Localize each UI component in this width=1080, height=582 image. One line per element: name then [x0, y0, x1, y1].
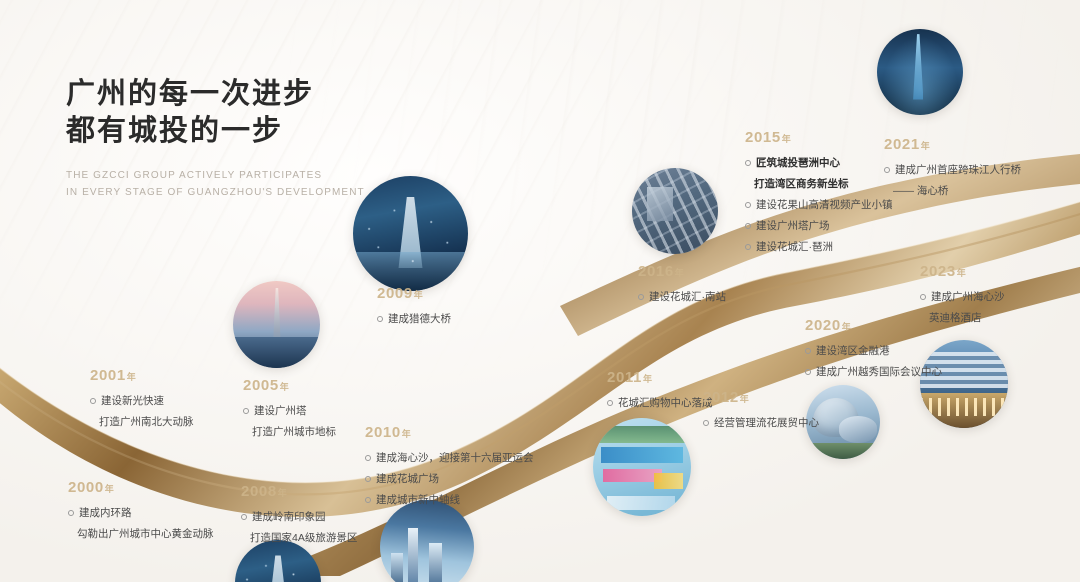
bullet-dot-icon [243, 408, 249, 414]
entry-line-text: 打造广州南北大动脉 [99, 413, 194, 431]
entry-2012[interactable]: 2012年经营管理流花展贸中心 [703, 390, 819, 432]
bullet-dot-icon [68, 510, 74, 516]
entry-line-text: 花城汇购物中心落成 [618, 394, 713, 412]
bullet-dot-icon [745, 202, 751, 208]
photo-liede-bridge[interactable] [353, 176, 468, 291]
bullet-dot-icon [241, 514, 247, 520]
entry-year: 2008年 [241, 484, 357, 501]
entry-line: 打造国家4A级旅游景区 [241, 529, 357, 547]
entry-year: 2015年 [745, 130, 893, 147]
bullet-dot-icon [745, 223, 751, 229]
entry-line: 建设广州塔广场 [745, 217, 893, 235]
entry-2015[interactable]: 2015年匠筑城投琶洲中心打造湾区商务新坐标建设花果山高清视频产业小镇建设广州塔… [745, 130, 893, 256]
entry-line-text: 建成岭南印象园 [252, 508, 326, 526]
entry-year: 2023年 [920, 264, 1005, 281]
entry-2010[interactable]: 2010年建成海心沙，迎接第十六届亚运会建成花城广场建成城市新中轴线 [365, 425, 534, 509]
entry-line-text: 建成花城广场 [376, 470, 439, 488]
entry-line: 经营管理流花展贸中心 [703, 414, 819, 432]
entry-2009[interactable]: 2009年建成猎德大桥 [377, 286, 451, 328]
entry-line: 建成广州海心沙 [920, 288, 1005, 306]
bullet-dot-icon [805, 369, 811, 375]
entry-line-text: 建设广州塔 [254, 402, 307, 420]
entry-line: 建设花果山高清视频产业小镇 [745, 196, 893, 214]
entry-line: 打造广州南北大动脉 [90, 413, 194, 431]
entry-year-suffix: 年 [782, 134, 792, 144]
entry-2008[interactable]: 2008年建成岭南印象园打造国家4A级旅游景区 [241, 484, 357, 547]
entry-2023[interactable]: 2023年建成广州海心沙英迪格酒店 [920, 264, 1005, 327]
entry-line-text: 经营管理流花展贸中心 [714, 414, 819, 432]
entry-2000[interactable]: 2000年建成内环路勾勒出广州城市中心黄金动脉 [68, 480, 214, 543]
entry-line-text: 建成海心沙，迎接第十六届亚运会 [376, 449, 534, 467]
entry-year-suffix: 年 [280, 382, 290, 392]
photo-haixin-bridge[interactable] [877, 29, 963, 115]
entry-2020[interactable]: 2020年建设湾区金融港建成广州越秀国际会议中心 [805, 318, 942, 381]
entry-line: 建设花城汇·南站 [638, 288, 726, 306]
entry-line: 建成岭南印象园 [241, 508, 357, 526]
photo-pazhou-aerial[interactable] [632, 168, 718, 254]
entry-line-text: 建设新光快速 [101, 392, 164, 410]
bullet-dot-icon [365, 455, 371, 461]
entry-line: 建成猎德大桥 [377, 310, 451, 328]
entry-line-text: 打造湾区商务新坐标 [754, 175, 849, 193]
photo-huachenghui-mall[interactable] [593, 418, 691, 516]
entry-line-text: 打造广州城市地标 [252, 423, 336, 441]
entry-line-text: 建成猎德大桥 [388, 310, 451, 328]
entry-line: 建成海心沙，迎接第十六届亚运会 [365, 449, 534, 467]
entry-line-text: 打造国家4A级旅游景区 [250, 529, 357, 547]
entry-line-text: 建设花果山高清视频产业小镇 [756, 196, 893, 214]
infographic-canvas: 广州的每一次进步 都有城投的一步 THE GZCCI GROUP ACTIVEL… [0, 0, 1080, 582]
entry-line-text: 匠筑城投琶洲中心 [756, 154, 840, 172]
entry-line-text: 建成广州越秀国际会议中心 [816, 363, 942, 381]
entry-line: 花城汇购物中心落成 [607, 394, 713, 412]
entry-year: 2011年 [607, 370, 713, 387]
entry-year-suffix: 年 [921, 141, 931, 151]
bullet-dot-icon [638, 294, 644, 300]
entry-2001[interactable]: 2001年建设新光快速打造广州南北大动脉 [90, 368, 194, 431]
photo-canton-tower[interactable] [233, 281, 320, 368]
entry-line-text: 英迪格酒店 [929, 309, 982, 327]
entry-line: 建成内环路 [68, 504, 214, 522]
bullet-dot-icon [377, 316, 383, 322]
entry-line: 建成花城广场 [365, 470, 534, 488]
entry-year-suffix: 年 [414, 290, 424, 300]
page-title: 广州的每一次进步 都有城投的一步 [66, 76, 486, 150]
bullet-dot-icon [805, 348, 811, 354]
entry-year-suffix: 年 [957, 268, 967, 278]
entry-line: —— 海心桥 [884, 182, 1021, 200]
entry-line-text: 建成广州海心沙 [931, 288, 1005, 306]
entry-year-suffix: 年 [278, 488, 288, 498]
entry-year-suffix: 年 [740, 394, 750, 404]
entry-line-text: 建设湾区金融港 [816, 342, 890, 360]
entry-line-text: 建设花城汇·琶洲 [756, 238, 833, 256]
bullet-dot-icon [745, 244, 751, 250]
photo-cbd-skyline[interactable] [380, 500, 474, 582]
entry-line: 建设广州塔 [243, 402, 336, 420]
entry-year: 2009年 [377, 286, 451, 303]
entry-year-suffix: 年 [643, 374, 653, 384]
bullet-dot-icon [703, 420, 709, 426]
bullet-dot-icon [607, 400, 613, 406]
entry-year-suffix: 年 [105, 484, 115, 494]
bullet-dot-icon [90, 398, 96, 404]
entry-year-suffix: 年 [127, 372, 137, 382]
entry-year-suffix: 年 [675, 268, 685, 278]
entry-line-text: 建设广州塔广场 [756, 217, 830, 235]
entry-line: 匠筑城投琶洲中心 [745, 154, 893, 172]
entry-line: 建成城市新中轴线 [365, 491, 534, 509]
entry-line-text: 建成内环路 [79, 504, 132, 522]
entry-line: 打造湾区商务新坐标 [745, 175, 893, 193]
bullet-dot-icon [365, 497, 371, 503]
entry-2005[interactable]: 2005年建设广州塔打造广州城市地标 [243, 378, 336, 441]
entry-line: 建设花城汇·琶洲 [745, 238, 893, 256]
entry-year: 2012年 [703, 390, 819, 407]
entry-year: 2021年 [884, 137, 1021, 154]
bullet-dot-icon [745, 160, 751, 166]
entry-year: 2016年 [638, 264, 726, 281]
entry-2016[interactable]: 2016年建设花城汇·南站 [638, 264, 726, 306]
entry-year-suffix: 年 [842, 322, 852, 332]
entry-year: 2000年 [68, 480, 214, 497]
entry-line: 建成广州首座跨珠江人行桥 [884, 161, 1021, 179]
entry-line-text: 建成广州首座跨珠江人行桥 [895, 161, 1021, 179]
entry-line: 建设新光快速 [90, 392, 194, 410]
entry-2011[interactable]: 2011年花城汇购物中心落成 [607, 370, 713, 412]
bullet-dot-icon [365, 476, 371, 482]
bullet-dot-icon [920, 294, 926, 300]
entry-year: 2001年 [90, 368, 194, 385]
entry-line: 打造广州城市地标 [243, 423, 336, 441]
entry-line: 勾勒出广州城市中心黄金动脉 [68, 525, 214, 543]
entry-2021[interactable]: 2021年建成广州首座跨珠江人行桥—— 海心桥 [884, 137, 1021, 200]
entry-line-text: 勾勒出广州城市中心黄金动脉 [77, 525, 214, 543]
entry-year-suffix: 年 [402, 429, 412, 439]
entry-year: 2005年 [243, 378, 336, 395]
entry-line-text: —— 海心桥 [893, 182, 948, 200]
entry-line-text: 建成城市新中轴线 [376, 491, 460, 509]
entry-line: 英迪格酒店 [920, 309, 1005, 327]
bullet-dot-icon [884, 167, 890, 173]
entry-line: 建设湾区金融港 [805, 342, 942, 360]
entry-year: 2010年 [365, 425, 534, 442]
entry-line: 建成广州越秀国际会议中心 [805, 363, 942, 381]
entry-line-text: 建设花城汇·南站 [649, 288, 726, 306]
